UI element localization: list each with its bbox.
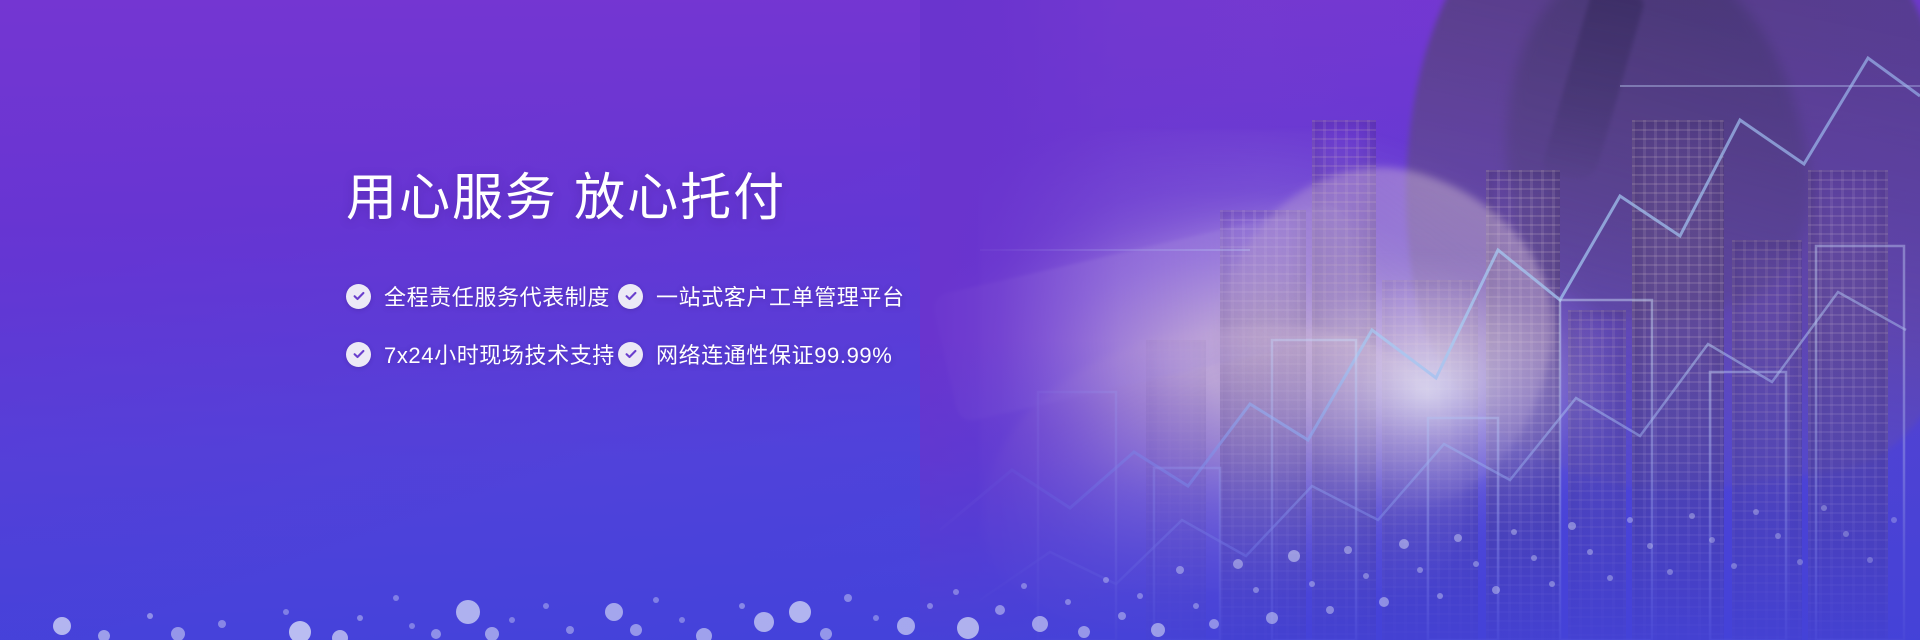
feature-label: 网络连通性保证99.99%	[656, 338, 892, 370]
hero-banner: 用心服务 放心托付 全程责任服务代表制度 一站式客户工单管理平台	[0, 0, 1920, 640]
banner-content: 用心服务 放心托付 全程责任服务代表制度 一站式客户工单管理平台	[346, 168, 1106, 370]
feature-item-3: 7x24小时现场技术支持	[346, 338, 618, 370]
feature-label: 7x24小时现场技术支持	[384, 338, 615, 370]
check-circle-icon	[618, 284, 643, 309]
feature-label: 一站式客户工单管理平台	[656, 280, 905, 312]
feature-item-4: 网络连通性保证99.99%	[618, 338, 1106, 370]
page-title: 用心服务 放心托付	[346, 168, 1106, 228]
check-circle-icon	[346, 342, 371, 367]
feature-item-1: 全程责任服务代表制度	[346, 280, 618, 312]
feature-item-2: 一站式客户工单管理平台	[618, 280, 1106, 312]
check-circle-icon	[346, 284, 371, 309]
check-circle-icon	[618, 342, 643, 367]
photo-bottom-fade	[920, 340, 1920, 640]
feature-list: 全程责任服务代表制度 一站式客户工单管理平台 7x24小时现场技术支持	[346, 280, 1106, 370]
feature-label: 全程责任服务代表制度	[384, 280, 610, 312]
